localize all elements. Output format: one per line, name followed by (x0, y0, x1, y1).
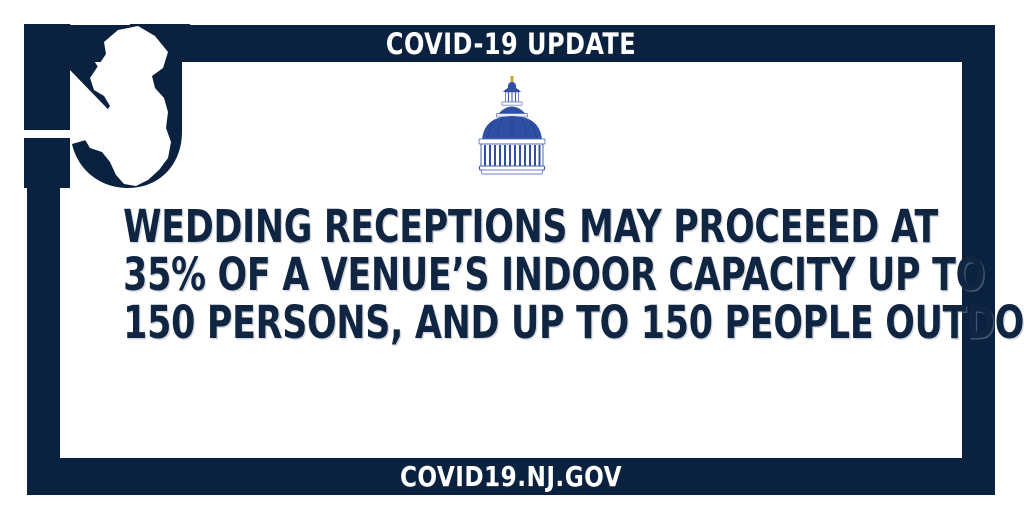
capitol-dome-icon (462, 76, 562, 180)
footer-website-url: COVID19.NJ.GOV (96, 462, 926, 492)
headline-line-3: 150 PERSONS, AND UP TO 150 PEOPLE OUTDOO… (123, 299, 899, 347)
covid-update-graphic: COVID-19 UPDATE (0, 0, 1024, 512)
headline-message: WEDDING RECEPTIONS MAY PROCEEED AT 35% O… (60, 203, 962, 347)
nj-state-logo (18, 12, 194, 192)
page-title: COVID-19 UPDATE (96, 29, 926, 59)
headline-line-2: 35% OF A VENUE’S INDOOR CAPACITY UP TO (123, 251, 899, 299)
nj-monogram-icon (18, 12, 194, 192)
headline-line-1: WEDDING RECEPTIONS MAY PROCEEED AT (123, 203, 899, 251)
